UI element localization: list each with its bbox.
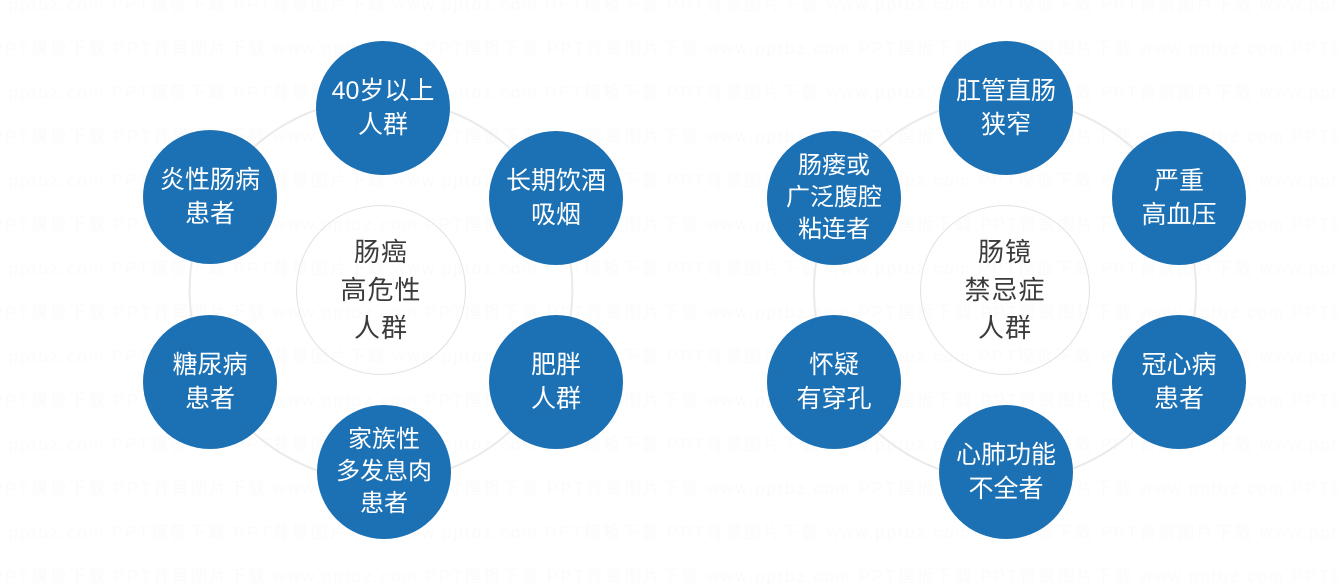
node-intestinal-fistula[interactable]: 肠瘘或 广泛腹腔 粘连者 — [767, 131, 901, 265]
node-coronary-heart-disease[interactable]: 冠心病 患者 — [1112, 315, 1246, 449]
connector-ring — [0, 0, 1338, 586]
node-label: 怀疑 有穿孔 — [792, 348, 875, 416]
node-suspected-perforation[interactable]: 怀疑 有穿孔 — [767, 315, 901, 449]
node-anorectal-stenosis[interactable]: 肛管直肠 狭窄 — [939, 41, 1073, 175]
node-severe-hypertension[interactable]: 严重 高血压 — [1112, 131, 1246, 265]
node-label: 严重 高血压 — [1137, 164, 1220, 232]
node-label: 肠瘘或 广泛腹腔 粘连者 — [782, 150, 886, 246]
node-label: 冠心病 患者 — [1137, 348, 1220, 416]
node-label: 肛管直肠 狭窄 — [952, 74, 1060, 142]
cluster-colonoscopy-contraindications: 肠镜 禁忌症 人群肛管直肠 狭窄严重 高血压冠心病 患者心肺功能 不全者怀疑 有… — [0, 0, 1338, 586]
diagram-canvas: www.pptbz.com PPT模板下载 PPT背景图片下载 www.pptb… — [0, 0, 1338, 586]
hub-label: 肠镜 禁忌症 人群 — [964, 233, 1045, 347]
node-cardiopulmonary-insufficiency[interactable]: 心肺功能 不全者 — [939, 405, 1073, 539]
hub-colonoscopy-contraindications: 肠镜 禁忌症 人群 — [920, 205, 1090, 375]
node-label: 心肺功能 不全者 — [952, 438, 1060, 506]
